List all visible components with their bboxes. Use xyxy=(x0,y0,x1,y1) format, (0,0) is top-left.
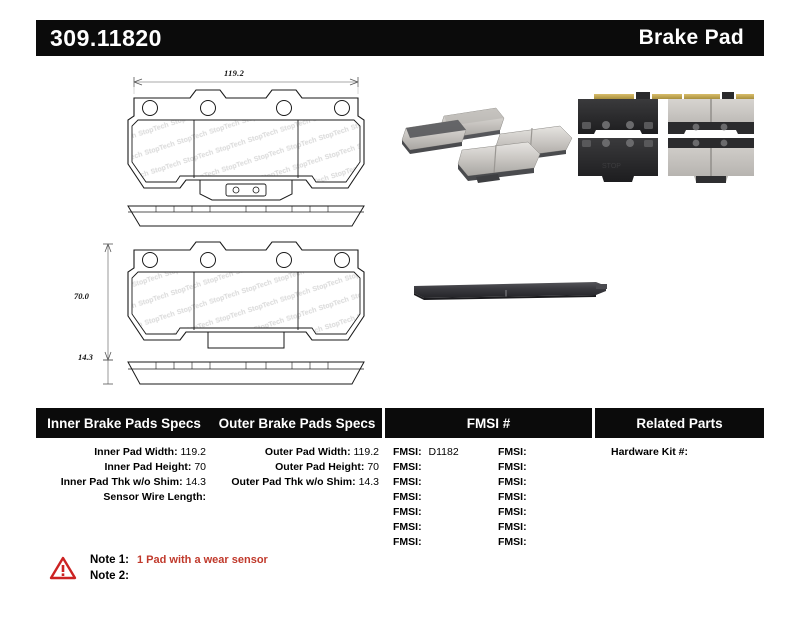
header-bar: 309.11820 Brake Pad xyxy=(36,20,764,56)
fmsi-label: FMSI: xyxy=(498,536,527,548)
mounting-hole xyxy=(277,253,292,268)
fmsi-row: FMSI: xyxy=(498,445,595,460)
fmsi-value xyxy=(527,446,531,458)
fmsi-value xyxy=(422,506,426,518)
pad-grid-top-left xyxy=(578,92,682,134)
spec-row: Outer Pad Thk w/o Shim: 14.3 xyxy=(212,475,385,490)
mounting-hole xyxy=(277,101,292,116)
fmsi-value xyxy=(422,536,426,548)
fmsi-row: FMSI: xyxy=(498,520,595,535)
photo-pads-perspective xyxy=(400,88,580,192)
fmsi-label: FMSI: xyxy=(498,506,527,518)
fmsi-label: FMSI: xyxy=(498,476,527,488)
cad-edge-view-top xyxy=(116,200,376,234)
photo-pad-side-profile xyxy=(410,264,610,314)
spec-label: Sensor Wire Length: xyxy=(103,491,206,503)
fmsi-label: FMSI: xyxy=(393,476,422,488)
fmsi-row: FMSI: xyxy=(393,535,490,550)
spec-label: Inner Pad Height: xyxy=(104,461,191,473)
mounting-hole xyxy=(143,253,158,268)
fmsi-label: FMSI: xyxy=(498,521,527,533)
fmsi-value xyxy=(422,476,426,488)
notes-section: Note 1: 1 Pad with a wear sensor Note 2: xyxy=(50,552,470,584)
mounting-hole xyxy=(335,101,350,116)
dimension-label-height: 70.0 xyxy=(74,291,89,301)
spec-value: 70 xyxy=(367,461,379,473)
fmsi-row: FMSI: xyxy=(498,535,595,550)
fmsi-value xyxy=(527,506,531,518)
note-label: Note 1: xyxy=(90,552,129,568)
friction-surface-top xyxy=(132,120,360,182)
warning-icon xyxy=(50,556,76,580)
center-tab-top xyxy=(200,180,292,200)
spec-value: 119.2 xyxy=(181,446,207,458)
dimension-line-thickness xyxy=(103,360,113,384)
fmsi-label: FMSI: xyxy=(393,461,422,473)
outer-specs-column: Outer Pad Width: 119.2 Outer Pad Height:… xyxy=(212,445,385,550)
fmsi-value xyxy=(422,491,426,503)
fmsi-label: FMSI: xyxy=(498,491,527,503)
mounting-hole xyxy=(201,101,216,116)
cad-edge-view-bottom xyxy=(116,356,376,392)
fmsi-row: FMSI: xyxy=(498,460,595,475)
spec-row: Inner Pad Width: 119.2 xyxy=(36,445,212,460)
fmsi-row: FMSI: D1182 xyxy=(393,445,490,460)
dimension-line-height xyxy=(103,244,113,360)
inner-specs-column: Inner Pad Width: 119.2 Inner Pad Height:… xyxy=(36,445,212,550)
fmsi-label: FMSI: xyxy=(498,461,527,473)
spec-label: Inner Pad Width: xyxy=(94,446,177,458)
related-parts-column: Hardware Kit #: xyxy=(595,445,764,550)
friction-surface-bottom xyxy=(132,272,360,334)
drawing-area: StopTech xyxy=(36,64,764,394)
dimension-label-thickness: 14.3 xyxy=(78,352,93,362)
column-header-outer-specs: Outer Brake Pads Specs xyxy=(212,408,382,438)
mounting-hole xyxy=(143,101,158,116)
spec-value: 14.3 xyxy=(186,476,206,488)
fmsi-row: FMSI: xyxy=(498,475,595,490)
fmsi-value xyxy=(527,491,531,503)
mounting-hole xyxy=(335,253,350,268)
fmsi-row: FMSI: xyxy=(393,460,490,475)
spec-row: Inner Pad Thk w/o Shim: 14.3 xyxy=(36,475,212,490)
spec-value: 14.3 xyxy=(359,476,379,488)
spec-row: Sensor Wire Length: xyxy=(36,490,212,505)
note-label: Note 2: xyxy=(90,568,129,584)
fmsi-label: FMSI: xyxy=(393,536,422,548)
spec-row: Outer Pad Height: 70 xyxy=(212,460,385,475)
pad-perspective-2 xyxy=(402,120,466,154)
fmsi-label: FMSI: xyxy=(393,491,422,503)
fmsi-row: FMSI: xyxy=(393,490,490,505)
fmsi-column: FMSI: D1182 FMSI: FMSI: FMSI: xyxy=(385,445,595,550)
spec-label: Inner Pad Thk w/o Shim: xyxy=(61,476,183,488)
spec-row: Outer Pad Width: 119.2 xyxy=(212,445,385,460)
pad-grid-bottom-right xyxy=(668,138,754,183)
part-number: 309.11820 xyxy=(36,25,162,52)
spec-label: Outer Pad Width: xyxy=(265,446,351,458)
fmsi-subcolumn-right: FMSI: FMSI: FMSI: FMSI: xyxy=(490,445,595,550)
fmsi-row: FMSI: xyxy=(498,490,595,505)
note-row-1: Note 1: 1 Pad with a wear sensor xyxy=(90,552,268,568)
spec-label: Outer Pad Height: xyxy=(275,461,364,473)
fmsi-value xyxy=(527,476,531,488)
svg-text:STOP: STOP xyxy=(602,163,621,170)
fmsi-value xyxy=(527,536,531,548)
fmsi-row: FMSI: xyxy=(393,475,490,490)
pad-grid-bottom-left: STOP xyxy=(578,138,658,182)
fmsi-value xyxy=(527,461,531,473)
spec-row: Inner Pad Height: 70 xyxy=(36,460,212,475)
spec-value: 70 xyxy=(194,461,206,473)
photo-pads-grid: STOP xyxy=(572,86,762,196)
spec-label: Outer Pad Thk w/o Shim: xyxy=(231,476,355,488)
column-header-fmsi: FMSI # xyxy=(385,408,592,438)
fmsi-label: FMSI: xyxy=(393,521,422,533)
table-body: Inner Pad Width: 119.2 Inner Pad Height:… xyxy=(36,438,764,550)
related-part-row: Hardware Kit #: xyxy=(611,445,764,460)
pad-perspective-4 xyxy=(458,142,540,183)
spec-sheet: 309.11820 Brake Pad StopTech xyxy=(0,0,800,619)
mounting-hole xyxy=(201,253,216,268)
fmsi-row: FMSI: xyxy=(498,505,595,520)
dimension-line-width xyxy=(134,77,358,94)
table-header-row: Inner Brake Pads Specs Outer Brake Pads … xyxy=(36,408,764,438)
column-header-related-parts: Related Parts xyxy=(595,408,764,438)
note-row-2: Note 2: xyxy=(90,568,268,584)
fmsi-label: FMSI: xyxy=(393,506,422,518)
fmsi-label: FMSI: xyxy=(393,446,422,458)
fmsi-subcolumn-left: FMSI: D1182 FMSI: FMSI: FMSI: xyxy=(385,445,490,550)
fmsi-value xyxy=(422,461,426,473)
fmsi-row: FMSI: xyxy=(393,505,490,520)
center-tab-bottom xyxy=(208,332,284,348)
product-type-label: Brake Pad xyxy=(639,26,764,50)
fmsi-value xyxy=(422,521,426,533)
dimension-label-width: 119.2 xyxy=(224,68,244,78)
spec-value: 119.2 xyxy=(354,446,380,458)
fmsi-value xyxy=(527,521,531,533)
fmsi-row: FMSI: xyxy=(393,520,490,535)
fmsi-value: D1182 xyxy=(425,446,459,458)
note-value: 1 Pad with a wear sensor xyxy=(129,552,268,568)
specifications-table: Inner Brake Pads Specs Outer Brake Pads … xyxy=(36,408,764,550)
fmsi-label: FMSI: xyxy=(498,446,527,458)
column-header-inner-specs: Inner Brake Pads Specs xyxy=(36,408,212,438)
